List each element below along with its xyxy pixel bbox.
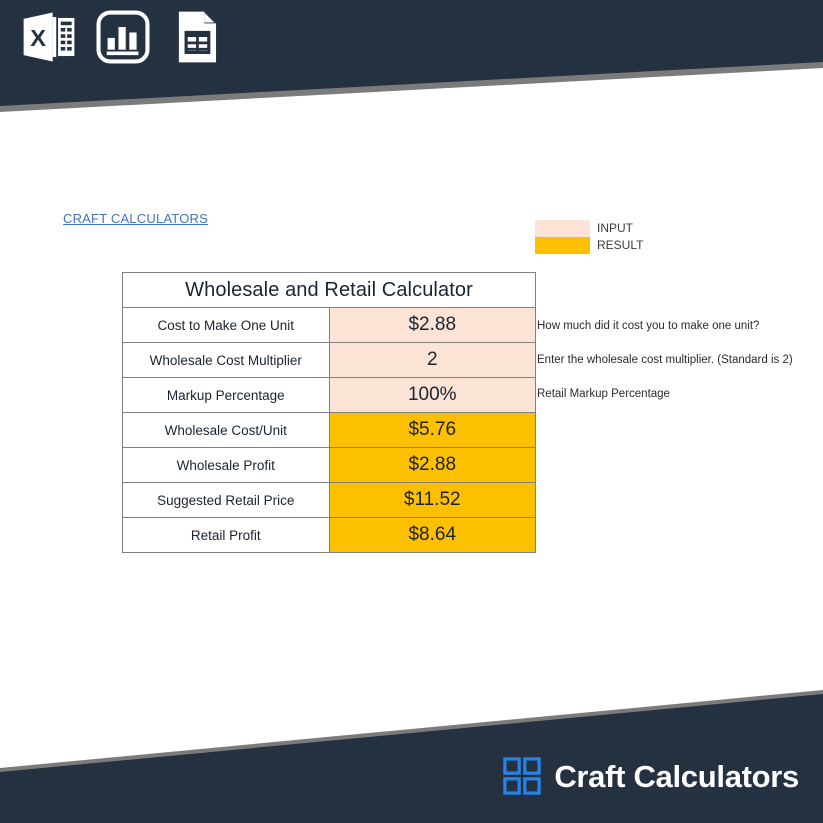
row-value-markup-percentage[interactable]: 100% — [329, 378, 536, 413]
table-row: Suggested Retail Price $11.52 — [123, 483, 536, 518]
note-wholesale-cost-multiplier: Enter the wholesale cost multiplier. (St… — [537, 343, 823, 377]
row-label-retail-profit: Retail Profit — [123, 518, 330, 553]
row-label-cost-to-make-one-unit: Cost to Make One Unit — [123, 308, 330, 343]
calculator-title: Wholesale and Retail Calculator — [123, 273, 536, 308]
row-label-suggested-retail-price: Suggested Retail Price — [123, 483, 330, 518]
footer-brand: Craft Calculators — [503, 757, 799, 795]
row-label-wholesale-profit: Wholesale Profit — [123, 448, 330, 483]
legend-label-result: RESULT — [597, 237, 643, 254]
legend-swatch-result — [535, 237, 590, 254]
table-title-row: Wholesale and Retail Calculator — [123, 273, 536, 308]
legend-label-input: INPUT — [597, 220, 643, 237]
table-row: Retail Profit $8.64 — [123, 518, 536, 553]
legend-labels: INPUT RESULT — [597, 220, 643, 254]
note-markup-percentage: Retail Markup Percentage — [537, 377, 823, 411]
legend-swatch-input — [535, 220, 590, 237]
bar-chart-icon — [94, 8, 152, 66]
row-value-wholesale-profit: $2.88 — [329, 448, 536, 483]
row-value-wholesale-cost-multiplier[interactable]: 2 — [329, 343, 536, 378]
row-label-markup-percentage: Markup Percentage — [123, 378, 330, 413]
row-label-wholesale-cost-multiplier: Wholesale Cost Multiplier — [123, 343, 330, 378]
craft-calculators-link[interactable]: CRAFT CALCULATORS — [63, 211, 208, 226]
row-value-cost-to-make-one-unit[interactable]: $2.88 — [329, 308, 536, 343]
notes-title-offset — [537, 272, 823, 309]
note-cost-to-make-one-unit: How much did it cost you to make one uni… — [537, 309, 823, 343]
wholesale-retail-calculator-table: Wholesale and Retail Calculator Cost to … — [122, 272, 536, 553]
header-icon-row: X — [20, 8, 226, 66]
row-label-wholesale-cost-unit: Wholesale Cost/Unit — [123, 413, 330, 448]
table-row: Wholesale Cost Multiplier 2 — [123, 343, 536, 378]
footer-band — [0, 688, 823, 823]
table-row: Wholesale Profit $2.88 — [123, 448, 536, 483]
spreadsheet-document-icon — [168, 8, 226, 66]
table-row: Wholesale Cost/Unit $5.76 — [123, 413, 536, 448]
helper-notes: How much did it cost you to make one uni… — [537, 272, 823, 411]
four-squares-logo-icon — [503, 757, 541, 795]
legend-swatches — [535, 220, 590, 254]
calculator-table-wrapper: Wholesale and Retail Calculator Cost to … — [122, 272, 536, 553]
row-value-retail-profit: $8.64 — [329, 518, 536, 553]
excel-file-icon: X — [20, 8, 78, 66]
legend: INPUT RESULT — [535, 220, 643, 254]
svg-text:X: X — [30, 25, 46, 51]
table-row: Markup Percentage 100% — [123, 378, 536, 413]
row-value-suggested-retail-price: $11.52 — [329, 483, 536, 518]
row-value-wholesale-cost-unit: $5.76 — [329, 413, 536, 448]
brand-name: Craft Calculators — [554, 761, 799, 792]
table-row: Cost to Make One Unit $2.88 — [123, 308, 536, 343]
page-canvas: X CRAFT CALCULATOR — [0, 0, 823, 823]
